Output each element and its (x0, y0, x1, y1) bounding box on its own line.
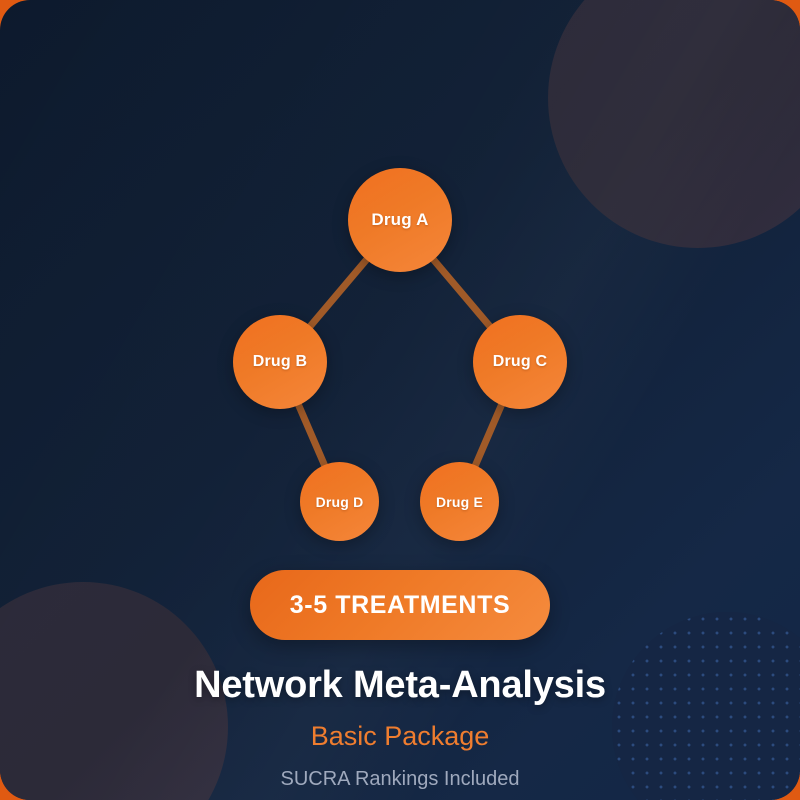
network-node-label: Drug D (316, 494, 364, 510)
package-footnote: SUCRA Rankings Included (0, 764, 800, 794)
badge-label: 3-5 TREATMENTS (290, 591, 510, 620)
package-title: Network Meta-Analysis (0, 660, 800, 710)
page-background: Drug A Drug B Drug C Drug D Drug E 3-5 T… (0, 0, 800, 800)
treatments-count-badge[interactable]: 3-5 TREATMENTS (250, 570, 550, 640)
package-text-block: Network Meta-Analysis Basic Package SUCR… (0, 660, 800, 794)
package-subtitle: Basic Package (0, 716, 800, 756)
network-node-label: Drug B (253, 353, 308, 371)
network-node-drug-e[interactable]: Drug E (420, 462, 499, 541)
network-node-drug-d[interactable]: Drug D (300, 462, 379, 541)
network-node-label: Drug C (493, 353, 548, 371)
network-node-label: Drug A (371, 210, 428, 230)
network-node-drug-c[interactable]: Drug C (473, 315, 567, 409)
package-card: Drug A Drug B Drug C Drug D Drug E 3-5 T… (0, 0, 800, 800)
network-node-drug-a[interactable]: Drug A (348, 168, 452, 272)
network-node-label: Drug E (436, 494, 483, 510)
network-diagram: Drug A Drug B Drug C Drug D Drug E (0, 130, 800, 560)
network-node-drug-b[interactable]: Drug B (233, 315, 327, 409)
